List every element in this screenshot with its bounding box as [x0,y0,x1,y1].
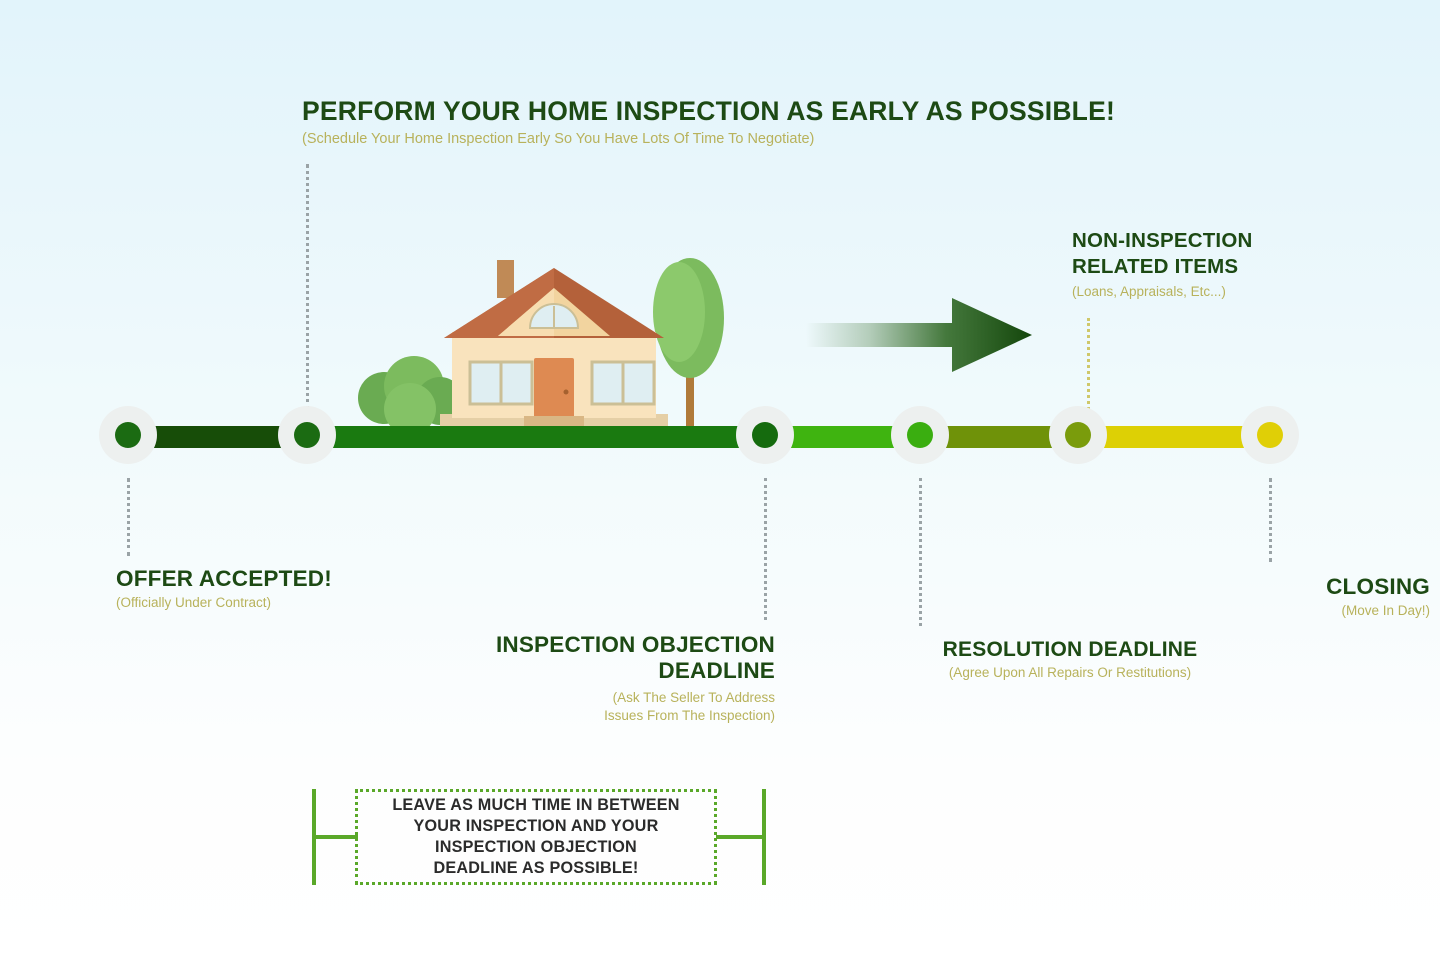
offer-accepted-title: OFFER ACCEPTED! [116,566,416,592]
offer-accepted-node[interactable] [99,406,157,464]
house-illustration [352,246,752,432]
inspection-objection-block: INSPECTION OBJECTION DEADLINE (Ask The S… [395,632,775,725]
connector-closing [1269,478,1272,562]
connector-headline [306,164,309,410]
front-door [534,358,574,420]
resolution-deadline-title: RESOLUTION DEADLINE [880,638,1260,662]
connector-non-inspection [1087,318,1090,410]
closing-block: CLOSING (Move In Day!) [1180,574,1430,620]
node-dot [1257,422,1283,448]
non-inspection-subtitle: (Loans, Appraisals, Etc...) [1072,284,1332,300]
resolution-deadline-block: RESOLUTION DEADLINE (Agree Upon All Repa… [880,638,1260,682]
inspection-objection-subtitle: (Ask The Seller To Address Issues From T… [395,689,775,725]
timeline-segment-1 [307,426,765,448]
right-arrow-icon [806,296,1032,374]
closing-subtitle: (Move In Day!) [1180,603,1430,619]
node-dot [907,422,933,448]
callout-text: LEAVE AS MUCH TIME IN BETWEEN YOUR INSPE… [392,795,679,879]
callout-box: LEAVE AS MUCH TIME IN BETWEEN YOUR INSPE… [355,789,717,885]
non-inspection-title-line1: NON-INSPECTION [1072,228,1332,254]
objection-title-line1: INSPECTION OBJECTION [395,632,775,658]
objection-sub-line2: Issues From The Inspection) [395,707,775,725]
non-inspection-node[interactable] [1049,406,1107,464]
resolution-deadline-subtitle: (Agree Upon All Repairs Or Restitutions) [880,665,1260,681]
inspection-start-node[interactable] [278,406,336,464]
offer-accepted-block: OFFER ACCEPTED! (Officially Under Contra… [116,566,416,612]
headline-subtitle: (Schedule Your Home Inspection Early So … [302,131,1192,149]
callout-line1: LEAVE AS MUCH TIME IN BETWEEN [392,796,679,814]
inspection-objection-node[interactable] [736,406,794,464]
headline-title: PERFORM YOUR HOME INSPECTION AS EARLY AS… [302,96,1192,127]
timeline-bar [0,420,1440,452]
connector-inspection-objection [764,478,767,620]
objection-title-line2: DEADLINE [395,658,775,684]
offer-accepted-subtitle: (Officially Under Contract) [116,595,416,611]
callout-caliper-arm-left [312,835,358,839]
chimney [497,260,514,298]
non-inspection-title: NON-INSPECTION RELATED ITEMS [1072,228,1332,280]
inspection-objection-title: INSPECTION OBJECTION DEADLINE [395,632,775,684]
callout-line2: YOUR INSPECTION AND YOUR [414,817,659,835]
headline-block: PERFORM YOUR HOME INSPECTION AS EARLY AS… [302,96,1192,148]
tree-icon [653,258,724,432]
node-dot [115,422,141,448]
callout-line4: DEADLINE AS POSSIBLE! [433,859,638,877]
callout-caliper-arm-right [716,835,766,839]
objection-sub-line1: (Ask The Seller To Address [395,689,775,707]
closing-title: CLOSING [1180,574,1430,600]
node-dot [1065,422,1091,448]
node-dot [294,422,320,448]
connector-resolution-deadline [919,478,922,626]
non-inspection-block: NON-INSPECTION RELATED ITEMS (Loans, App… [1072,228,1332,301]
infographic-canvas: PERFORM YOUR HOME INSPECTION AS EARLY AS… [0,0,1440,960]
non-inspection-title-line2: RELATED ITEMS [1072,254,1332,280]
callout-line3: INSPECTION OBJECTION [435,838,637,856]
closing-node[interactable] [1241,406,1299,464]
resolution-deadline-node[interactable] [891,406,949,464]
node-dot [752,422,778,448]
connector-offer-accepted [127,478,130,556]
